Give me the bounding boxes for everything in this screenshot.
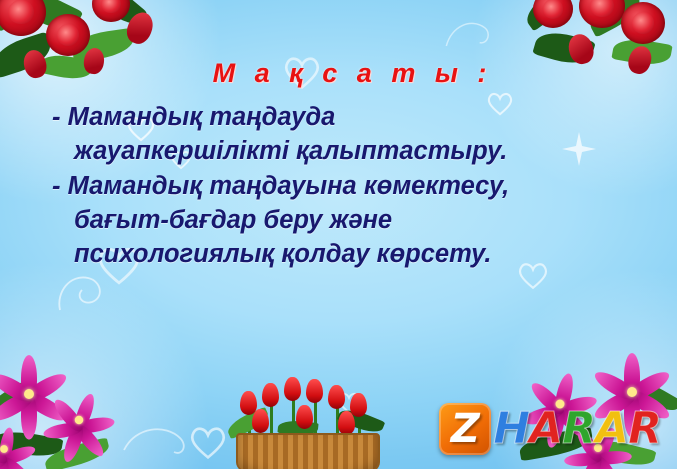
logo-letter-r2: R — [628, 407, 661, 451]
logo-letter-h: H — [493, 407, 529, 451]
decor-lilies-bottom-left — [0, 345, 152, 469]
swirl-icon — [440, 16, 496, 56]
logo-z-badge: Z — [439, 403, 491, 455]
bullet-line-3: психологиялық қолдау көрсету. — [52, 238, 659, 272]
bullet-line-1: Мамандық таңдауда — [68, 103, 336, 131]
slide: М а қ с а т ы : - Мамандық таңдауда жауа… — [0, 0, 677, 469]
list-item: - Мамандық таңдауда жауапкершілікті қалы… — [52, 101, 659, 168]
logo-letter-a1: A — [529, 407, 562, 451]
logo-letter-a2: A — [595, 407, 628, 451]
bullet-line-1: Мамандық таңдауына көмектесу, — [68, 172, 510, 200]
logo-letter-r1: R — [562, 407, 595, 451]
list-item: - Мамандық таңдауына көмектесу, бағыт-ба… — [52, 170, 659, 271]
bullet-dash: - — [52, 103, 61, 131]
slide-content: М а қ с а т ы : - Мамандық таңдауда жауа… — [0, 58, 677, 273]
bullet-line-2: жауапкершілікті қалыптастыру. — [52, 135, 659, 169]
swirl-icon — [54, 268, 114, 316]
bullet-list: - Мамандық таңдауда жауапкершілікті қалы… — [18, 101, 659, 271]
page-title: М а қ с а т ы : — [18, 58, 659, 89]
zharar-logo: Z H A R A R — [439, 403, 661, 455]
bullet-line-2: бағыт-бағдар беру және — [52, 204, 659, 238]
bullet-dash: - — [52, 172, 61, 200]
decor-tulip-basket — [218, 369, 408, 469]
